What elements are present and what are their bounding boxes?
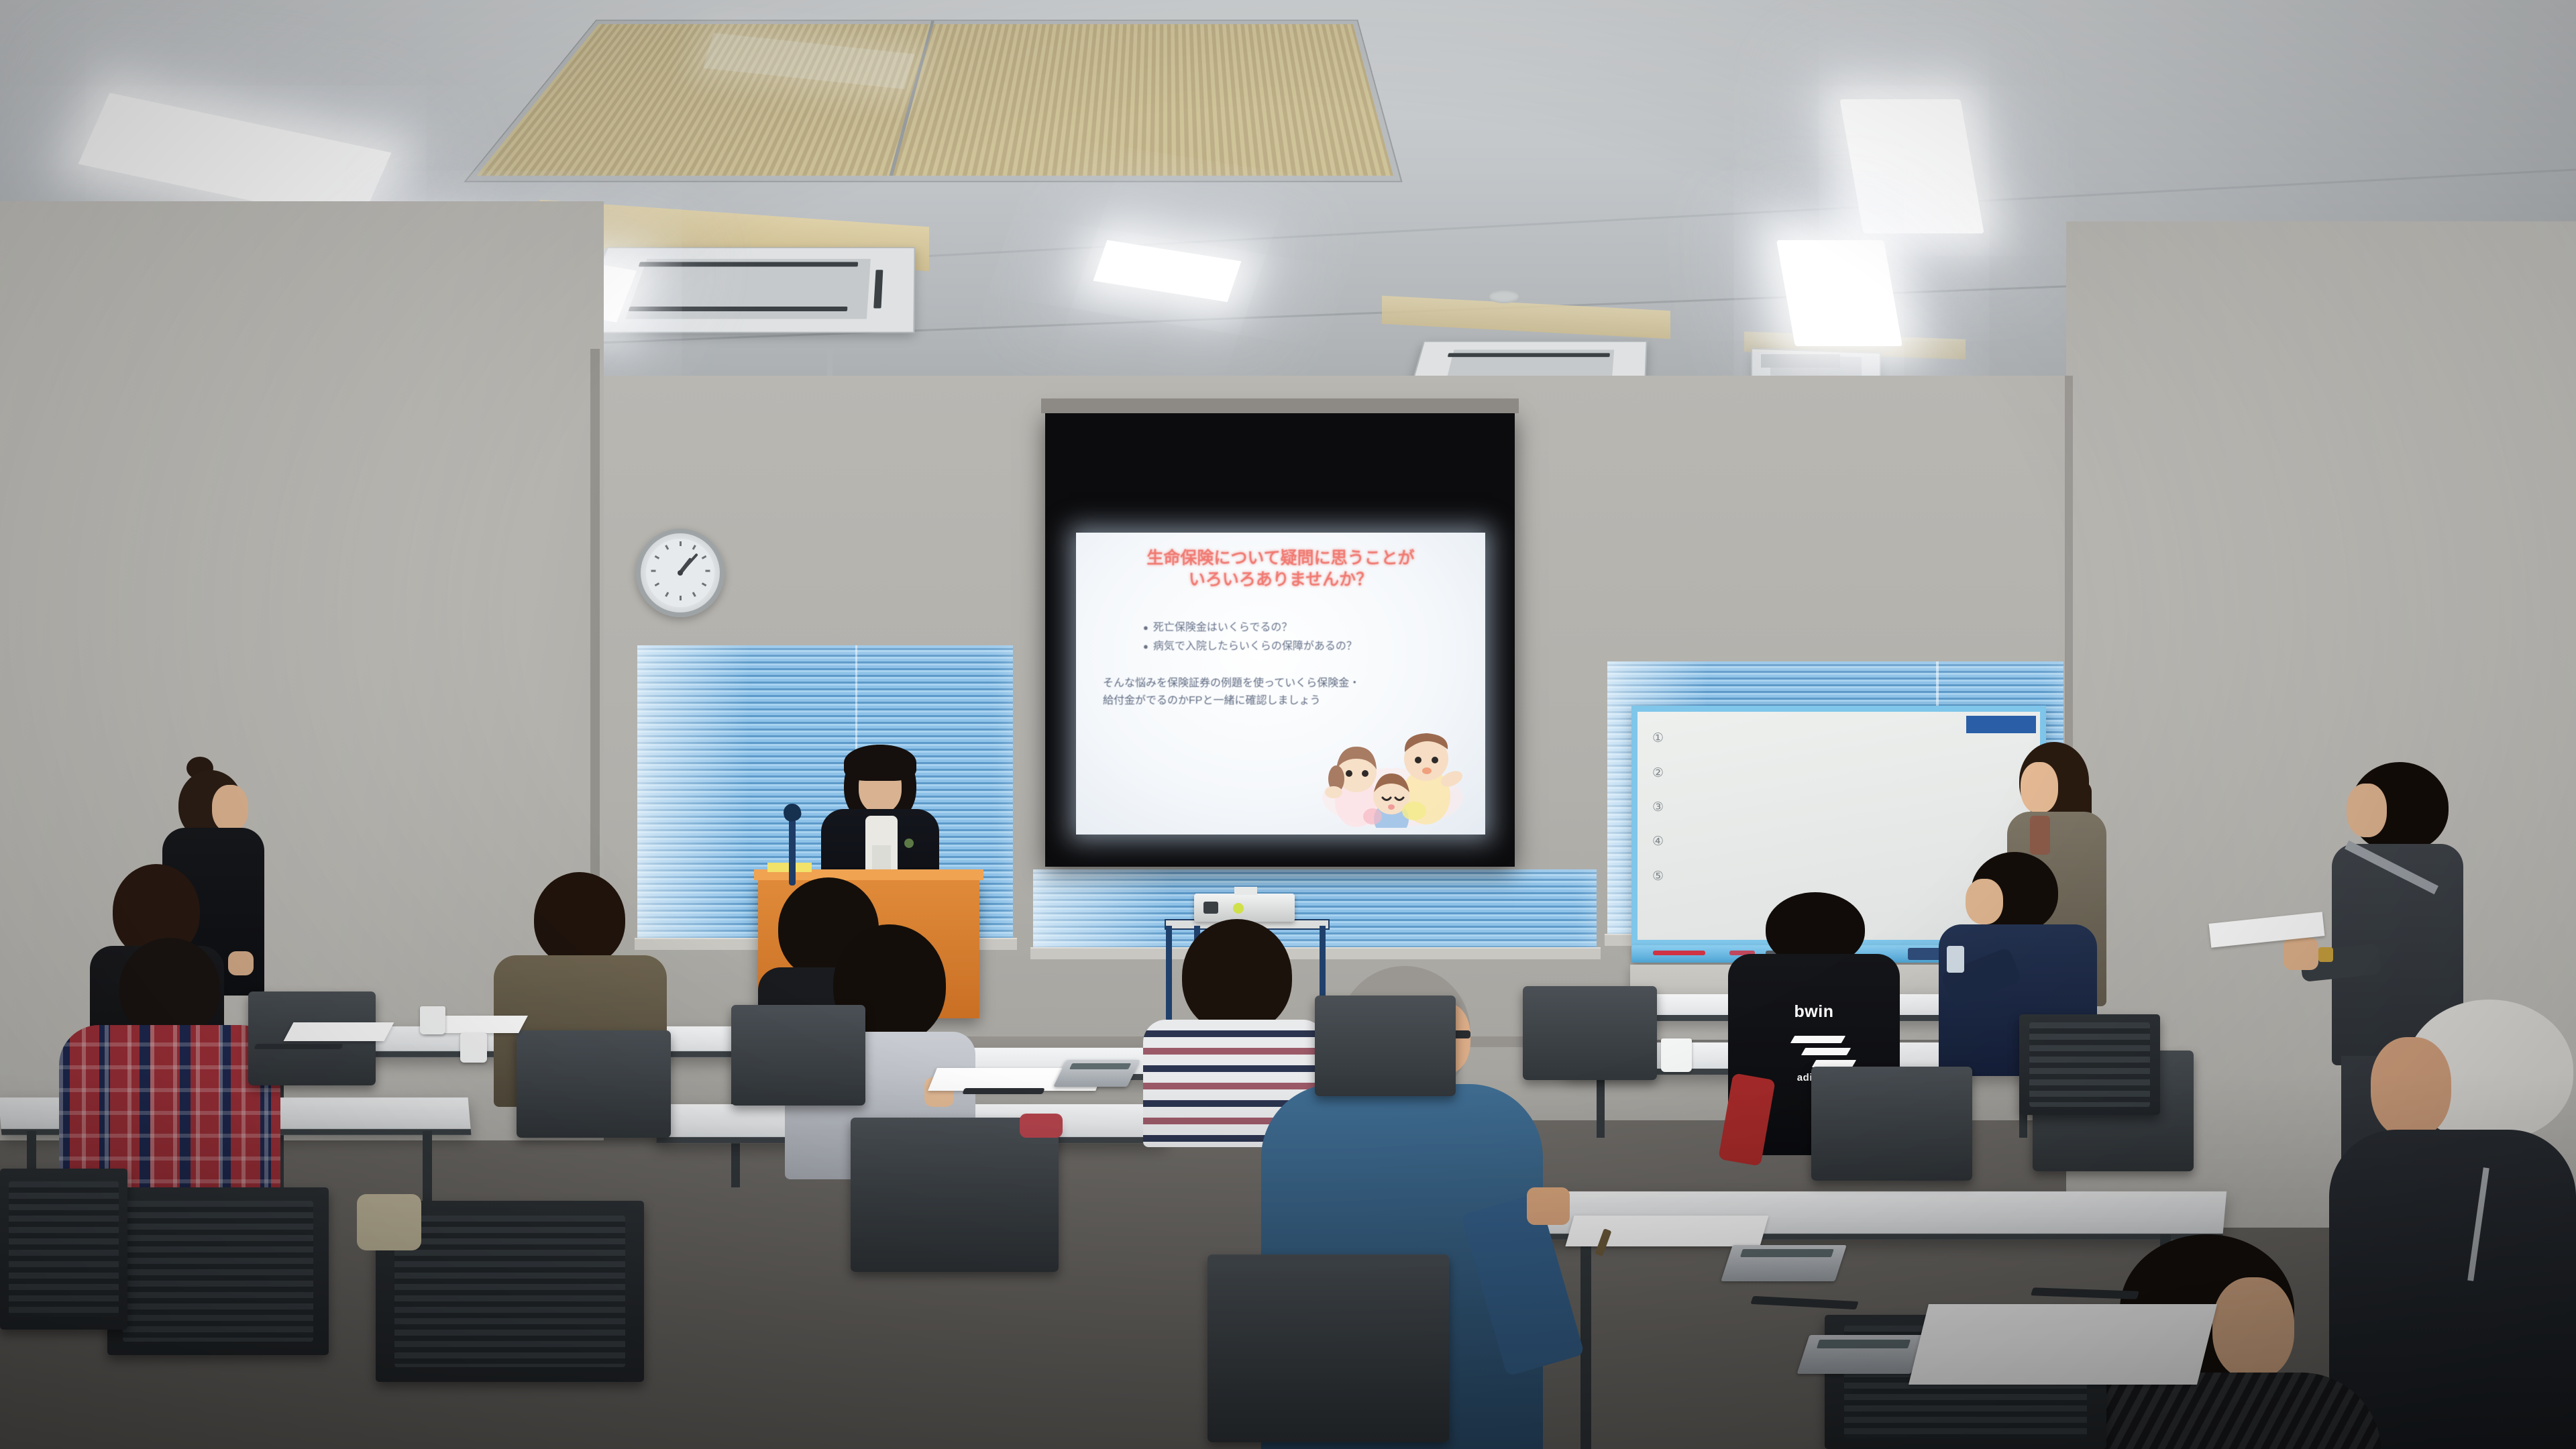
calculator[interactable]: [1721, 1245, 1847, 1281]
projector-led-icon: [1233, 903, 1244, 914]
staff-far-right-hand: [2284, 938, 2318, 970]
screen-casing: [1041, 398, 1519, 413]
attendee-senior-face: [2371, 1037, 2451, 1138]
projected-slide: 生命保険について疑問に思うことが いろいろありませんか？ 死亡保険金はいくらでる…: [1076, 533, 1485, 835]
clock-center-pin: [678, 570, 683, 576]
whiteboard-item-5: ⑤: [1652, 869, 1664, 884]
projector: [1194, 894, 1295, 922]
ceiling-tile-panel: [464, 20, 1403, 182]
pen[interactable]: [1750, 1296, 1858, 1309]
projector-lens-icon: [1203, 902, 1218, 914]
bwin-logo-text: bwin: [1728, 1002, 1900, 1022]
slide-bullet-list: 死亡保険金はいくらでるの？ 病気で入院したらいくらの保障があるの？: [1114, 619, 1489, 656]
person-attendee-plaid: [59, 938, 280, 1206]
clock-face: [646, 539, 714, 607]
handout-paper[interactable]: [1565, 1216, 1768, 1246]
calculator[interactable]: [1053, 1060, 1140, 1087]
adidas-stripe-icon: [1790, 1036, 1845, 1043]
chair-mesh[interactable]: [1315, 996, 1456, 1096]
staff-right-scarf: [2030, 816, 2050, 855]
calculator[interactable]: [1797, 1335, 1924, 1374]
staff-far-right-face: [2347, 784, 2387, 837]
chair-mesh[interactable]: [731, 1005, 865, 1106]
whiteboard-item-2: ②: [1652, 765, 1664, 781]
paper-cup[interactable]: [420, 1006, 445, 1034]
smoke-detector: [1488, 290, 1520, 303]
ceiling-light: [1839, 99, 1984, 233]
adidas-stripe-icon: [1801, 1048, 1851, 1055]
watch-icon: [2318, 947, 2333, 962]
slide-title: 生命保険について疑問に思うことが いろいろありませんか？: [1095, 547, 1466, 590]
paper-cup[interactable]: [1661, 1038, 1692, 1072]
wall-clock: [636, 529, 724, 617]
smartphone-icon[interactable]: [1947, 946, 1964, 973]
presenter-hair-front: [844, 745, 916, 781]
attendee-olive-hair: [534, 872, 625, 966]
handout-paper[interactable]: [284, 1022, 394, 1041]
table-leg: [1580, 1234, 1591, 1449]
seminar-room-photo: 生命保険について疑問に思うことが いろいろありませんか？ 死亡保険金はいくらでる…: [0, 0, 2576, 1449]
chair-mesh[interactable]: [1523, 986, 1657, 1080]
chair-stacked[interactable]: [0, 1169, 127, 1330]
red-item: [1020, 1114, 1063, 1138]
chair-mesh[interactable]: [1207, 1254, 1449, 1442]
exit-sign-box: [1761, 354, 1840, 368]
pen[interactable]: [962, 1088, 1044, 1094]
slide-bullet: 死亡保険金はいくらでるの？: [1140, 619, 1489, 637]
attendee-blue-hand: [1527, 1187, 1570, 1225]
whiteboard-item-1: ①: [1652, 731, 1664, 746]
attendee-plaid-hair: [119, 938, 220, 1038]
presenter-badge: [904, 839, 914, 848]
red-marker-icon: [1653, 951, 1705, 955]
chair-mesh[interactable]: [1811, 1067, 1972, 1181]
slide-paragraph: そんな悩みを保険証券の例題を使っていくら保険金・ 給付金がでるのかFPと一緒に確…: [1103, 675, 1465, 709]
slide-bullet: 病気で入院したらいくらの保障があるの？: [1140, 637, 1489, 656]
handout-paper[interactable]: [1909, 1304, 2217, 1385]
chair-mesh[interactable]: [851, 1118, 1059, 1272]
chair-stacked[interactable]: [107, 1187, 329, 1355]
whiteboard-item-4: ④: [1652, 834, 1664, 849]
attendee-navy-face: [1966, 879, 2003, 924]
staff-left-face: [212, 785, 248, 832]
staff-right-face: [2021, 762, 2058, 813]
whiteboard-tag: [1966, 716, 2036, 733]
chair-far-right[interactable]: [2019, 1014, 2160, 1115]
bag-item: [357, 1194, 421, 1250]
paper-cup[interactable]: [460, 1033, 487, 1063]
attendee-front-face: [2212, 1277, 2294, 1379]
projector-top: [1234, 887, 1257, 895]
family-illustration-icon: [1313, 717, 1468, 828]
whiteboard-item-3: ③: [1652, 800, 1664, 815]
microphone-stem: [789, 816, 796, 885]
pen[interactable]: [254, 1044, 343, 1049]
ceiling-light: [1776, 240, 1902, 346]
chair-mesh[interactable]: [517, 1030, 671, 1138]
projection-screen: 生命保険について疑問に思うことが いろいろありませんか？ 死亡保険金はいくらでる…: [1045, 411, 1515, 867]
